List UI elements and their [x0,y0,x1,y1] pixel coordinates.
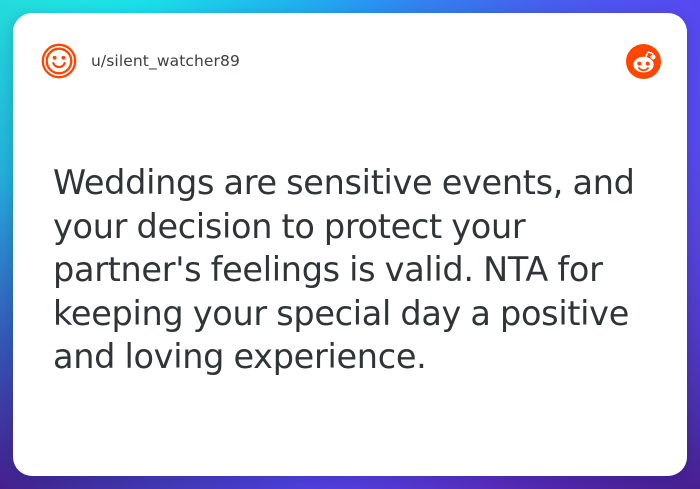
reddit-post-card: u/silent_watcher89 Weddings are sensitiv… [13,13,687,476]
author-username: u/silent_watcher89 [91,52,240,70]
post-text: Weddings are sensitive events, and your … [53,161,653,379]
post-body: Weddings are sensitive events, and your … [53,161,653,379]
reddit-snoo-icon[interactable] [626,44,661,79]
smiley-face-avatar-icon [40,42,78,80]
post-header: u/silent_watcher89 [13,13,687,109]
post-author[interactable]: u/silent_watcher89 [40,42,626,80]
screenshot-canvas: u/silent_watcher89 Weddings are sensitiv… [0,0,700,489]
